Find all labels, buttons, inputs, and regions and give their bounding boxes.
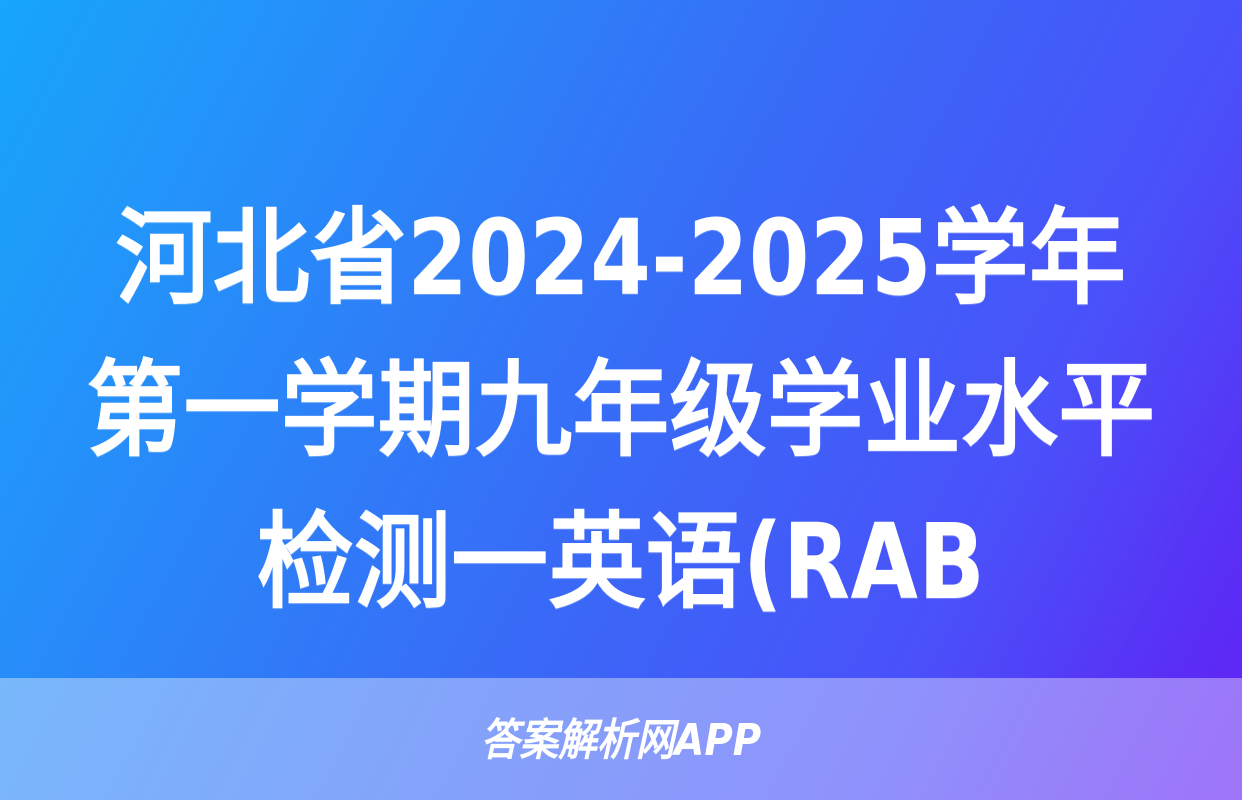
exam-cover-image: 河北省2024-2025学年 第一学期九年级学业水平 检测一英语(RAB 答案解… <box>0 0 1242 800</box>
watermark-text: 答案解析网APP <box>75 704 1168 768</box>
cover-title: 河北省2024-2025学年 第一学期九年级学业水平 检测一英语(RAB <box>0 182 1242 638</box>
title-line-1: 河北省2024-2025学年 <box>43 182 1198 334</box>
title-line-3: 检测一英语(RAB <box>43 486 1198 638</box>
title-line-2: 第一学期九年级学业水平 <box>43 334 1198 486</box>
